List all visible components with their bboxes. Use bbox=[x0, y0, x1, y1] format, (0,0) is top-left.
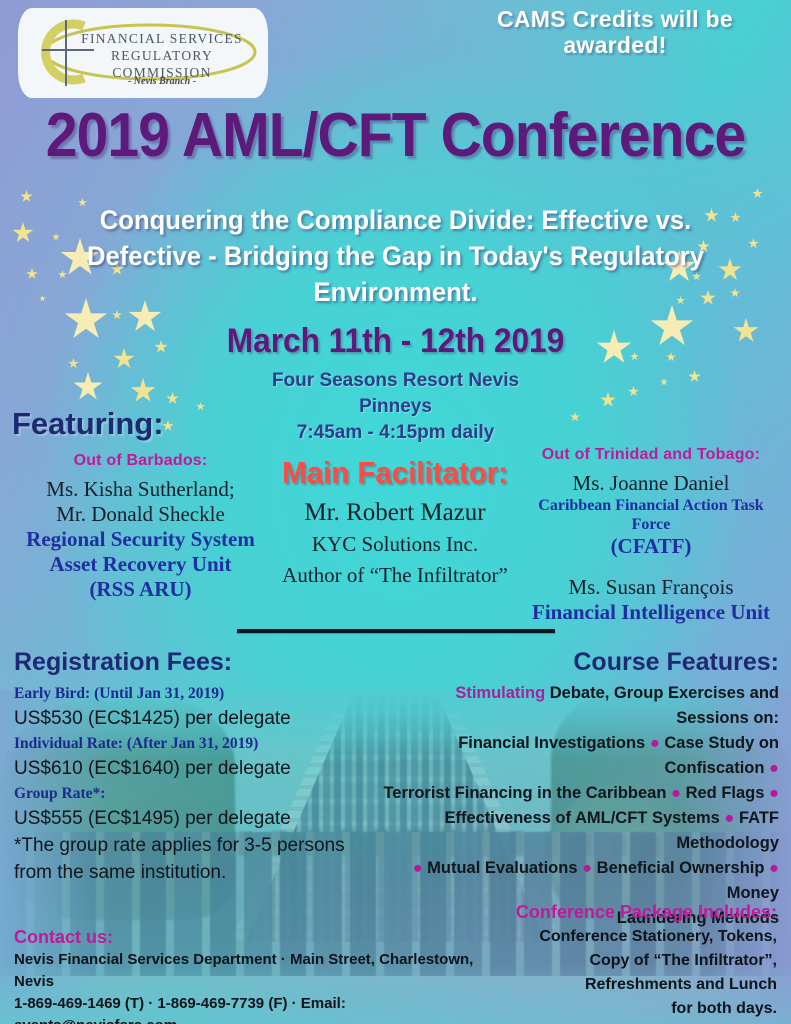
fee-value: US$555 (EC$1495) per delegate bbox=[14, 805, 354, 832]
bullet-icon: ● bbox=[582, 859, 592, 877]
page-title: 2019 AML/CFT Conference bbox=[32, 104, 760, 168]
course-features-section: Course Features: Stimulating Debate, Gro… bbox=[379, 648, 779, 931]
registration-fees-section: Registration Fees: Early Bird: (Until Ja… bbox=[14, 648, 354, 886]
bullet-icon: ● bbox=[671, 784, 681, 802]
course-topic: Terrorist Financing in the Caribbean bbox=[383, 784, 671, 802]
speaker-name: Ms. Susan François bbox=[518, 575, 784, 600]
featuring-heading: Featuring: bbox=[12, 406, 164, 442]
course-line: Stimulating Debate, Group Exercises and … bbox=[379, 681, 779, 731]
fee-footnote: from the same institution. bbox=[14, 859, 354, 886]
speaker-org: Financial Intelligence Unit bbox=[518, 600, 784, 625]
region-label-barbados: Out of Barbados: bbox=[8, 452, 273, 470]
course-line: Terrorist Financing in the Caribbean ● R… bbox=[379, 781, 779, 806]
logo-text: FINANCIAL SERVICES REGULATORY COMMISSION bbox=[62, 30, 262, 81]
course-intro-rest: Debate, Group Exercises and Sessions on: bbox=[545, 684, 779, 727]
logo-branch-label: - Nevis Branch - bbox=[62, 76, 262, 87]
conference-package-section: Conference Package Includes: Conference … bbox=[477, 900, 777, 1021]
speaker-name: Ms. Kisha Sutherland; bbox=[8, 477, 273, 502]
contact-heading: Contact us: bbox=[14, 925, 474, 949]
fee-label: Early Bird: (Until Jan 31, 2019) bbox=[14, 682, 354, 705]
registration-fees-heading: Registration Fees: bbox=[14, 648, 354, 677]
course-line: ● Mutual Evaluations ● Beneficial Owners… bbox=[379, 856, 779, 906]
package-item: Refreshments and Lunch bbox=[477, 973, 777, 997]
venue-name: Four Seasons Resort Nevis bbox=[0, 368, 791, 394]
region-label-trinidad: Out of Trinidad and Tobago: bbox=[518, 446, 784, 464]
course-topic: Financial Investigations bbox=[458, 734, 650, 752]
speaker-org: Caribbean Financial Action Task Force bbox=[518, 496, 784, 534]
course-topic: Red Flags bbox=[681, 784, 769, 802]
fee-value: US$530 (EC$1425) per delegate bbox=[14, 705, 354, 732]
course-topic: Beneficial Ownership bbox=[592, 859, 769, 877]
conference-subtitle: Conquering the Compliance Divide: Effect… bbox=[72, 202, 719, 310]
course-topic: Effectiveness of AML/CFT Systems bbox=[444, 809, 724, 827]
speaker-name: Mr. Donald Sheckle bbox=[8, 502, 273, 527]
main-facilitator-block: Main Facilitator: Mr. Robert Mazur KYC S… bbox=[270, 455, 520, 591]
main-facilitator-heading: Main Facilitator: bbox=[276, 455, 514, 491]
conference-poster: FINANCIAL SERVICES REGULATORY COMMISSION… bbox=[0, 0, 791, 1024]
facilitator-company: KYC Solutions Inc. bbox=[270, 529, 520, 560]
bullet-icon: ● bbox=[769, 859, 779, 877]
package-item: Copy of “The Infiltrator”, bbox=[477, 949, 777, 973]
course-features-heading: Course Features: bbox=[379, 648, 779, 677]
bullet-icon: ● bbox=[769, 784, 779, 802]
course-line: Financial Investigations ● Case Study on… bbox=[379, 731, 779, 781]
contact-address: Nevis Financial Services Department · Ma… bbox=[14, 949, 474, 993]
speakers-trinidad-tobago: Out of Trinidad and Tobago: Ms. Joanne D… bbox=[518, 446, 784, 625]
course-topic: Mutual Evaluations bbox=[423, 859, 583, 877]
package-item: for both days. bbox=[477, 997, 777, 1021]
speakers-barbados: Out of Barbados: Ms. Kisha Sutherland; M… bbox=[8, 452, 273, 602]
contact-section: Contact us: Nevis Financial Services Dep… bbox=[14, 925, 474, 1024]
bullet-icon: ● bbox=[650, 734, 660, 752]
speaker-name: Ms. Joanne Daniel bbox=[518, 471, 784, 496]
section-divider bbox=[237, 629, 555, 633]
speaker-org-abbrev: (CFATF) bbox=[518, 534, 784, 559]
speaker-org-abbrev: (RSS ARU) bbox=[8, 577, 273, 602]
speaker-org: Asset Recovery Unit bbox=[8, 552, 273, 577]
package-item: Conference Stationery, Tokens, bbox=[477, 925, 777, 949]
fsrc-logo: FINANCIAL SERVICES REGULATORY COMMISSION… bbox=[18, 8, 268, 98]
bullet-icon: ● bbox=[413, 859, 423, 877]
course-topic: Case Study on Confiscation bbox=[660, 734, 779, 777]
logo-line-1: FINANCIAL SERVICES bbox=[62, 30, 262, 47]
bullet-icon: ● bbox=[724, 809, 734, 827]
fee-footnote: *The group rate applies for 3-5 persons bbox=[14, 832, 354, 859]
facilitator-name: Mr. Robert Mazur bbox=[270, 496, 520, 529]
package-heading: Conference Package Includes: bbox=[477, 900, 777, 925]
speaker-org: Regional Security System bbox=[8, 527, 273, 552]
fee-value: US$610 (EC$1640) per delegate bbox=[14, 755, 354, 782]
fee-label: Group Rate*: bbox=[14, 782, 354, 805]
bullet-icon: ● bbox=[769, 759, 779, 777]
course-highlight: Stimulating bbox=[455, 684, 545, 702]
fee-label: Individual Rate: (After Jan 31, 2019) bbox=[14, 732, 354, 755]
cams-credits-banner: CAMS Credits will be awarded! bbox=[465, 6, 765, 58]
facilitator-credit: Author of “The Infiltrator” bbox=[270, 560, 520, 591]
conference-dates: March 11th - 12th 2019 bbox=[28, 322, 764, 360]
contact-phone-email: 1-869-469-1469 (T) · 1-869-469-7739 (F) … bbox=[14, 993, 474, 1024]
course-line: Effectiveness of AML/CFT Systems ● FATF … bbox=[379, 806, 779, 856]
